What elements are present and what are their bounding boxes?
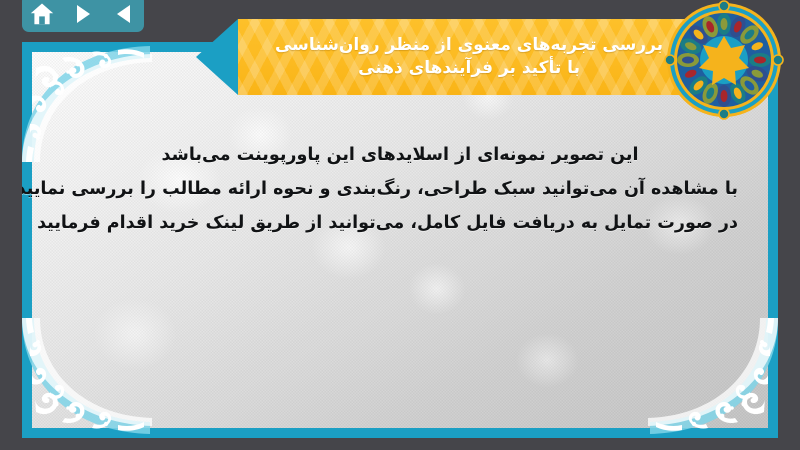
body-line-3: در صورت تمایل به دریافت فایل کامل، می‌تو… <box>62 206 738 240</box>
home-icon <box>29 2 55 26</box>
banner-body: بررسی تجربه‌های معنوی از منظر روان‌شناسی… <box>238 19 720 95</box>
body-line-2: با مشاهده آن می‌توانید سبک طراحی، رنگ‌بن… <box>62 172 738 206</box>
banner-arrow-shape <box>196 19 238 95</box>
slide-body-text: این تصویر نمونه‌ای از اسلایدهای این پاور… <box>62 138 738 240</box>
slide-viewer: این تصویر نمونه‌ای از اسلایدهای این پاور… <box>0 0 800 450</box>
home-button[interactable] <box>27 1 57 27</box>
title-line-2: با تأکید بر فرآیندهای ذهنی <box>358 57 580 80</box>
previous-slide-button[interactable] <box>109 1 139 27</box>
persian-medallion-ornament <box>664 0 784 120</box>
triangle-right-icon <box>77 5 90 23</box>
title-line-1: بررسی تجربه‌های معنوی از منظر روان‌شناسی <box>275 34 663 57</box>
navigation-bar <box>22 0 144 32</box>
next-slide-button[interactable] <box>68 1 98 27</box>
title-banner: بررسی تجربه‌های معنوی از منظر روان‌شناسی… <box>196 19 720 95</box>
body-line-1: این تصویر نمونه‌ای از اسلایدهای این پاور… <box>62 138 738 172</box>
triangle-left-icon <box>117 5 130 23</box>
